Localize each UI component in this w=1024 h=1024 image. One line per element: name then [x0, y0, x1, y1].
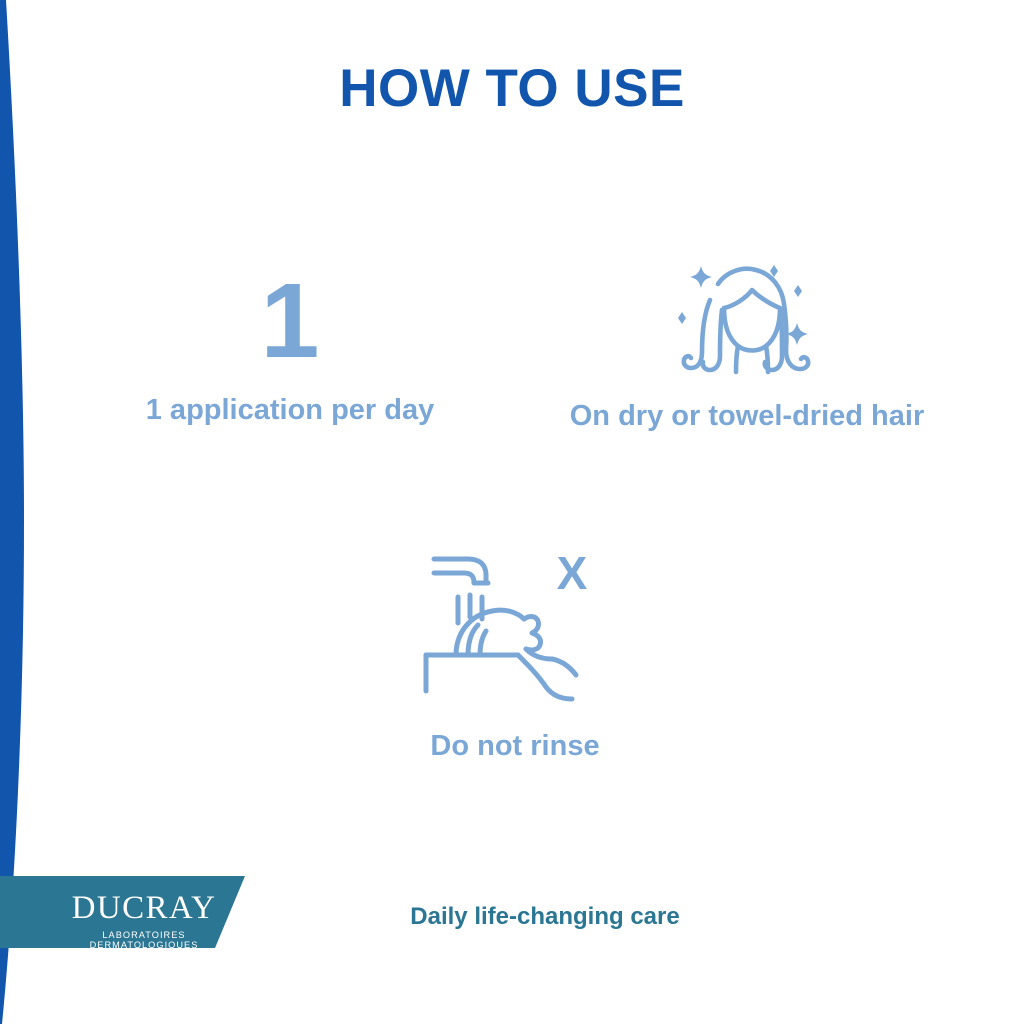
page-title: HOW TO USE [0, 58, 1024, 119]
cross-mark-x: X [557, 547, 588, 599]
number-one-icon: 1 [118, 268, 462, 374]
step-do-not-rinse: X Do not rinse [330, 545, 700, 766]
step-three-caption: Do not rinse [330, 726, 700, 766]
tagline: Daily life-changing care [330, 903, 760, 931]
step-two-caption: On dry or towel-dried hair [562, 396, 932, 436]
step-dry-or-towel-dried-hair: On dry or towel-dried hair [562, 252, 932, 436]
step-one-caption: 1 application per day [118, 390, 462, 430]
left-blue-curve-decoration [0, 0, 60, 1024]
faucet-rinsing-head-crossed-out-icon: X [330, 545, 700, 708]
step-one-application: 1 1 application per day [118, 268, 462, 430]
woman-long-hair-sparkles-icon [562, 252, 932, 382]
brand-banner-shape [0, 876, 280, 948]
poster-canvas: HOW TO USE 1 1 application per day [0, 0, 1024, 1024]
svg-text:X: X [557, 547, 588, 599]
